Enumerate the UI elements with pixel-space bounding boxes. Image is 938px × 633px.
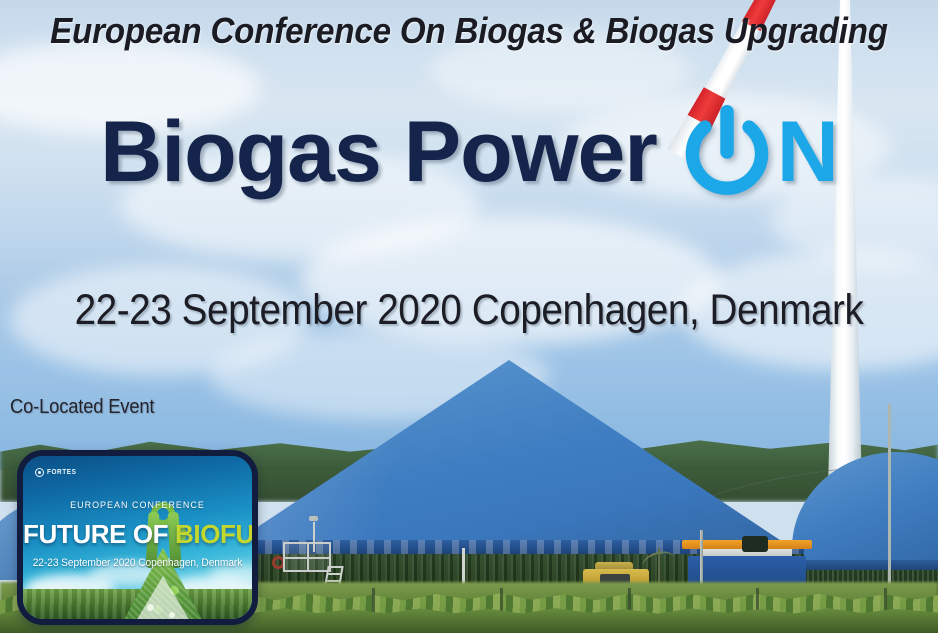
equipment-dark-unit [742,536,768,552]
fortes-brand-name: FORTES [47,469,76,476]
flask-dot [159,622,164,625]
event-dateline: 22-23 September 2020 Copenhagen, Denmark [47,286,891,335]
fortes-logo-icon [35,468,44,477]
event-headline: European Conference On Biogas & Biogas U… [38,10,901,52]
badge-date-text: 22-23 September 2020 Copenhagen, Denmark [31,557,244,569]
badge-title-green: BIOFUELS [175,519,258,549]
brand-title: Biogas Power N [0,104,938,200]
brand-title-text: Biogas Power [100,109,657,195]
badge-brand-lockup: FORTES [35,468,79,477]
power-on-icon [679,104,775,200]
badge-eyebrow-text: EUROPEAN CONFERENCE [30,500,245,511]
mast-pole [888,404,891,594]
badge-title-white: FUTURE OF [23,519,175,549]
colocated-event-label: Co-Located Event [10,396,154,419]
flask-dot [147,604,154,611]
lamp-icon [309,516,318,521]
access-platform [283,542,331,572]
conference-banner: European Conference On Biogas & Biogas U… [0,0,938,633]
brand-title-on: N [777,109,838,195]
badge-title: FUTURE OF BIOFUELS [23,519,252,550]
colocated-event-badge[interactable]: FORTES EUROPEAN CONFERENCE FUTURE OF BIO… [17,450,258,625]
flask-dot [169,612,175,618]
